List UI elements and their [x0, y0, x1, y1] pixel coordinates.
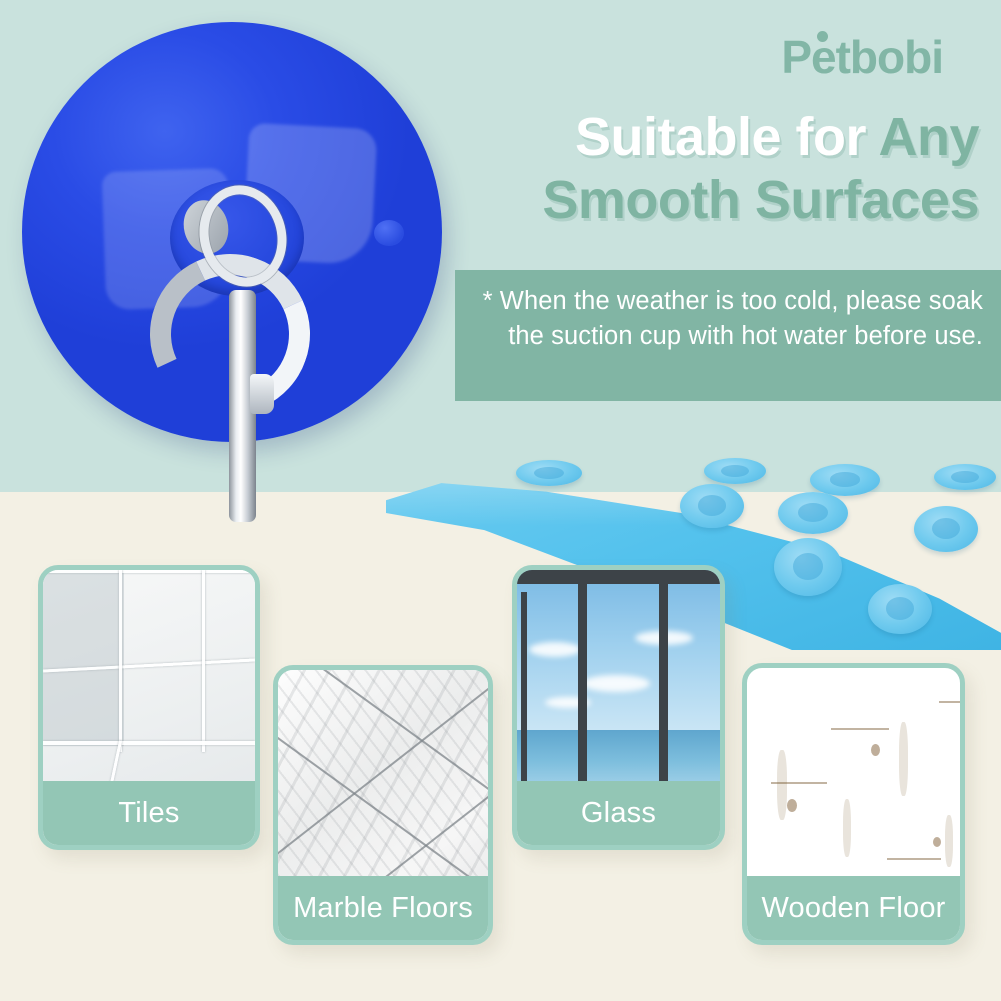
wood-grain	[945, 815, 953, 867]
wood-knot	[871, 744, 880, 756]
carabiner-latch	[250, 374, 274, 414]
headline-any: Any	[878, 107, 979, 167]
tile-wall-shade	[43, 570, 124, 746]
page-title: Suitable for Any Smooth Surfaces	[455, 106, 1001, 232]
wood-grain	[899, 722, 908, 796]
suction-cup-side-nub	[374, 220, 404, 246]
window-frame-vertical	[659, 570, 668, 812]
wood-grain	[843, 799, 851, 857]
tile-grout-line	[43, 741, 255, 745]
surface-card-glass[interactable]: Glass	[512, 565, 725, 850]
cloud-shape	[582, 675, 650, 692]
window-frame-vertical	[578, 570, 587, 807]
tile-grout-line	[119, 570, 122, 752]
hero-suction-cup-image	[22, 22, 442, 442]
headline-suitable-for: Suitable for	[575, 107, 879, 167]
plank-seam	[887, 858, 941, 860]
sea-region	[517, 730, 720, 782]
disclaimer-band: * When the weather is too cold, please s…	[455, 270, 1001, 401]
card-label-wooden-floor: Wooden Floor	[747, 876, 960, 940]
wood-knot	[933, 837, 941, 847]
headline-line-1: Suitable for Any	[455, 106, 979, 169]
marble-seam	[273, 665, 493, 861]
headline-line-2: Smooth Surfaces	[455, 169, 979, 232]
tile-grout-line	[43, 570, 255, 573]
card-label-marble-floors: Marble Floors	[278, 876, 488, 940]
product-feature-poster: Petbobi Suitable for Any Smooth Surfaces…	[0, 0, 1001, 1001]
card-label-glass: Glass	[517, 781, 720, 845]
header-text-block: Petbobi Suitable for Any Smooth Surfaces	[455, 0, 1001, 492]
brand-logo: Petbobi	[781, 34, 943, 80]
surface-card-marble-floors[interactable]: Marble Floors	[273, 665, 493, 945]
tile-grout-line	[202, 570, 205, 752]
window-frame-top	[517, 570, 720, 584]
marble-seam	[273, 665, 493, 813]
plank-seam	[939, 701, 965, 703]
disclaimer-text: * When the weather is too cold, please s…	[473, 284, 983, 353]
card-label-tiles: Tiles	[43, 781, 255, 845]
wood-knot	[787, 799, 797, 812]
window-frame-left	[521, 592, 527, 812]
cloud-shape	[529, 642, 581, 657]
brand-name: Petbobi	[781, 31, 943, 83]
surface-card-wooden-floor[interactable]: Wooden Floor	[742, 663, 965, 945]
surface-card-tiles[interactable]: Tiles	[38, 565, 260, 850]
wood-grain	[777, 750, 787, 820]
plank-seam	[831, 728, 889, 730]
